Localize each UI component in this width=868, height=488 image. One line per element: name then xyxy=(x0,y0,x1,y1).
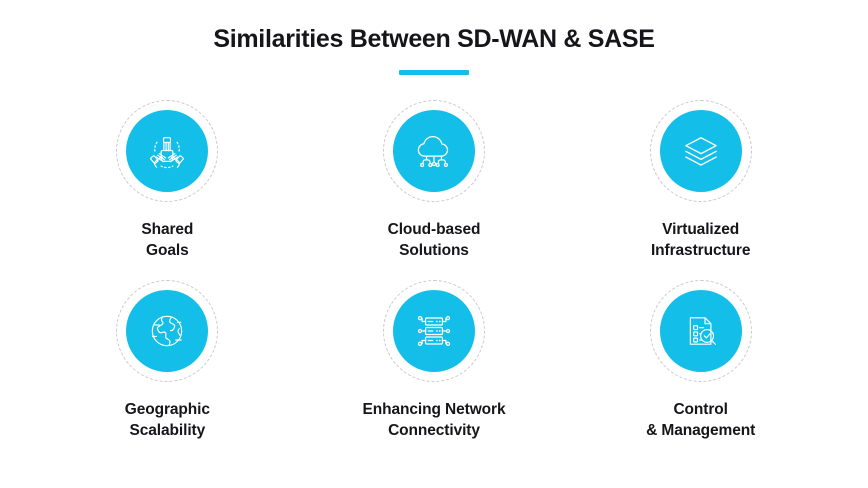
icon-dashed-ring xyxy=(383,280,485,382)
icon-circle xyxy=(393,110,475,192)
feature-card-geographic-scalability[interactable]: Geographic Scalability xyxy=(34,280,301,460)
feature-card-cloud-based-solutions[interactable]: Cloud-based Solutions xyxy=(301,100,568,280)
teamwork-hands-icon xyxy=(145,129,189,173)
features-grid: Shared Goals xyxy=(34,100,834,460)
icon-dashed-ring xyxy=(116,100,218,202)
slide-root: Similarities Between SD-WAN & SASE xyxy=(0,0,868,488)
server-rack-network-icon xyxy=(411,308,457,354)
feature-card-virtualized-infrastructure[interactable]: Virtualized Infrastructure xyxy=(567,100,834,280)
page-title: Similarities Between SD-WAN & SASE xyxy=(0,24,868,54)
icon-circle xyxy=(126,110,208,192)
icon-dashed-ring xyxy=(116,280,218,382)
title-underline-accent xyxy=(399,70,469,75)
feature-label: Enhancing Network Connectivity xyxy=(362,399,505,442)
slide-header: Similarities Between SD-WAN & SASE xyxy=(0,24,868,75)
icon-dashed-ring xyxy=(650,280,752,382)
feature-card-enhancing-network-connectivity[interactable]: Enhancing Network Connectivity xyxy=(301,280,568,460)
feature-card-shared-goals[interactable]: Shared Goals xyxy=(34,100,301,280)
document-checklist-magnifier-icon xyxy=(679,309,723,353)
icon-circle xyxy=(660,290,742,372)
icon-circle xyxy=(660,110,742,192)
icon-dashed-ring xyxy=(650,100,752,202)
icon-dashed-ring xyxy=(383,100,485,202)
feature-label: Geographic Scalability xyxy=(125,399,210,442)
feature-label: Cloud-based Solutions xyxy=(388,219,481,262)
feature-label: Control & Management xyxy=(646,399,755,442)
feature-label: Shared Goals xyxy=(141,219,193,262)
globe-icon xyxy=(145,309,189,353)
feature-label: Virtualized Infrastructure xyxy=(651,219,750,262)
cloud-network-icon xyxy=(411,128,457,174)
icon-circle xyxy=(393,290,475,372)
feature-card-control-and-management[interactable]: Control & Management xyxy=(567,280,834,460)
icon-circle xyxy=(126,290,208,372)
layers-stack-icon xyxy=(679,129,723,173)
